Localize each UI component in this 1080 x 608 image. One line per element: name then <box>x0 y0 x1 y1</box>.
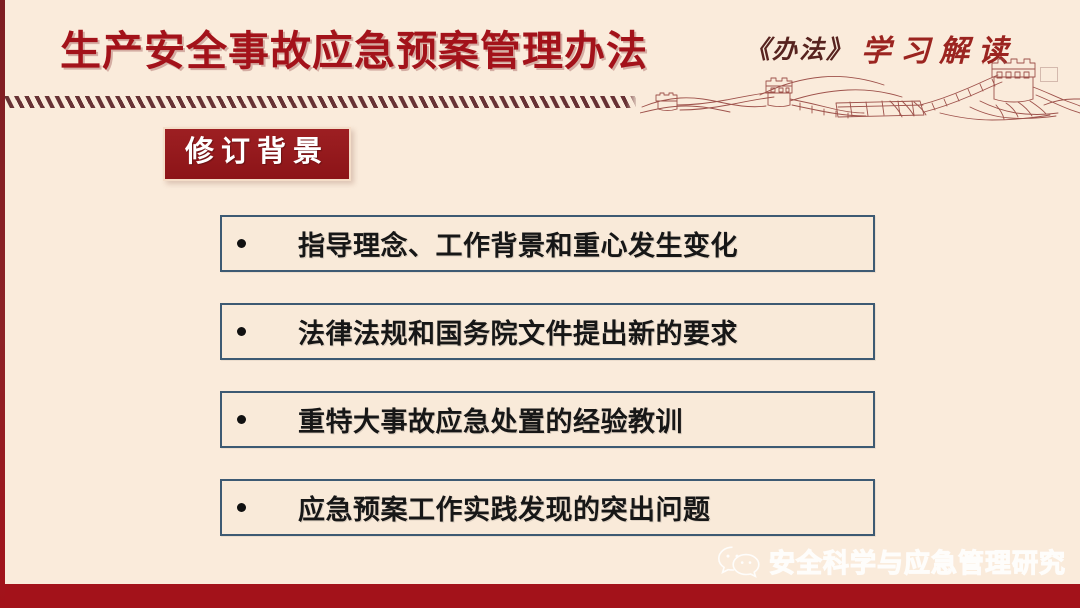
list-item-label: 法律法规和国务院文件提出新的要求 <box>298 312 873 351</box>
bottom-red-bar <box>0 584 1080 608</box>
section-badge-label: 修订背景 <box>185 137 329 169</box>
bullet-dot-icon <box>237 503 246 512</box>
list-item: 应急预案工作实践发现的突出问题 <box>220 479 875 536</box>
hatched-divider <box>0 96 636 108</box>
list-item: 重特大事故应急处置的经验教训 <box>220 391 875 448</box>
list-item-label: 重特大事故应急处置的经验教训 <box>298 400 873 439</box>
slide-header: 生产安全事故应急预案管理办法 《办法》学习解读 <box>0 0 1080 120</box>
bullet-dot-icon <box>237 327 246 336</box>
watermark-label: 安全科学与应急管理研究 <box>769 543 1066 580</box>
bullet-list: 指导理念、工作背景和重心发生变化 法律法规和国务院文件提出新的要求 重特大事故应… <box>220 215 875 567</box>
page-title: 生产安全事故应急预案管理办法 <box>60 26 648 76</box>
presentation-slide: 生产安全事故应急预案管理办法 《办法》学习解读 <box>0 0 1080 608</box>
section-badge: 修订背景 <box>163 127 351 181</box>
list-item: 指导理念、工作背景和重心发生变化 <box>220 215 875 272</box>
list-item-label: 应急预案工作实践发现的突出问题 <box>298 488 873 527</box>
bullet-dot-icon <box>237 415 246 424</box>
seal-stamp-icon <box>1040 67 1058 82</box>
bullet-dot-icon <box>237 239 246 248</box>
list-item: 法律法规和国务院文件提出新的要求 <box>220 303 875 360</box>
left-accent-stripe <box>0 0 5 608</box>
watermark: 安全科学与应急管理研究 <box>717 543 1066 580</box>
great-wall-illustration <box>640 55 1080 125</box>
list-item-label: 指导理念、工作背景和重心发生变化 <box>298 224 873 263</box>
wechat-icon <box>717 544 761 580</box>
